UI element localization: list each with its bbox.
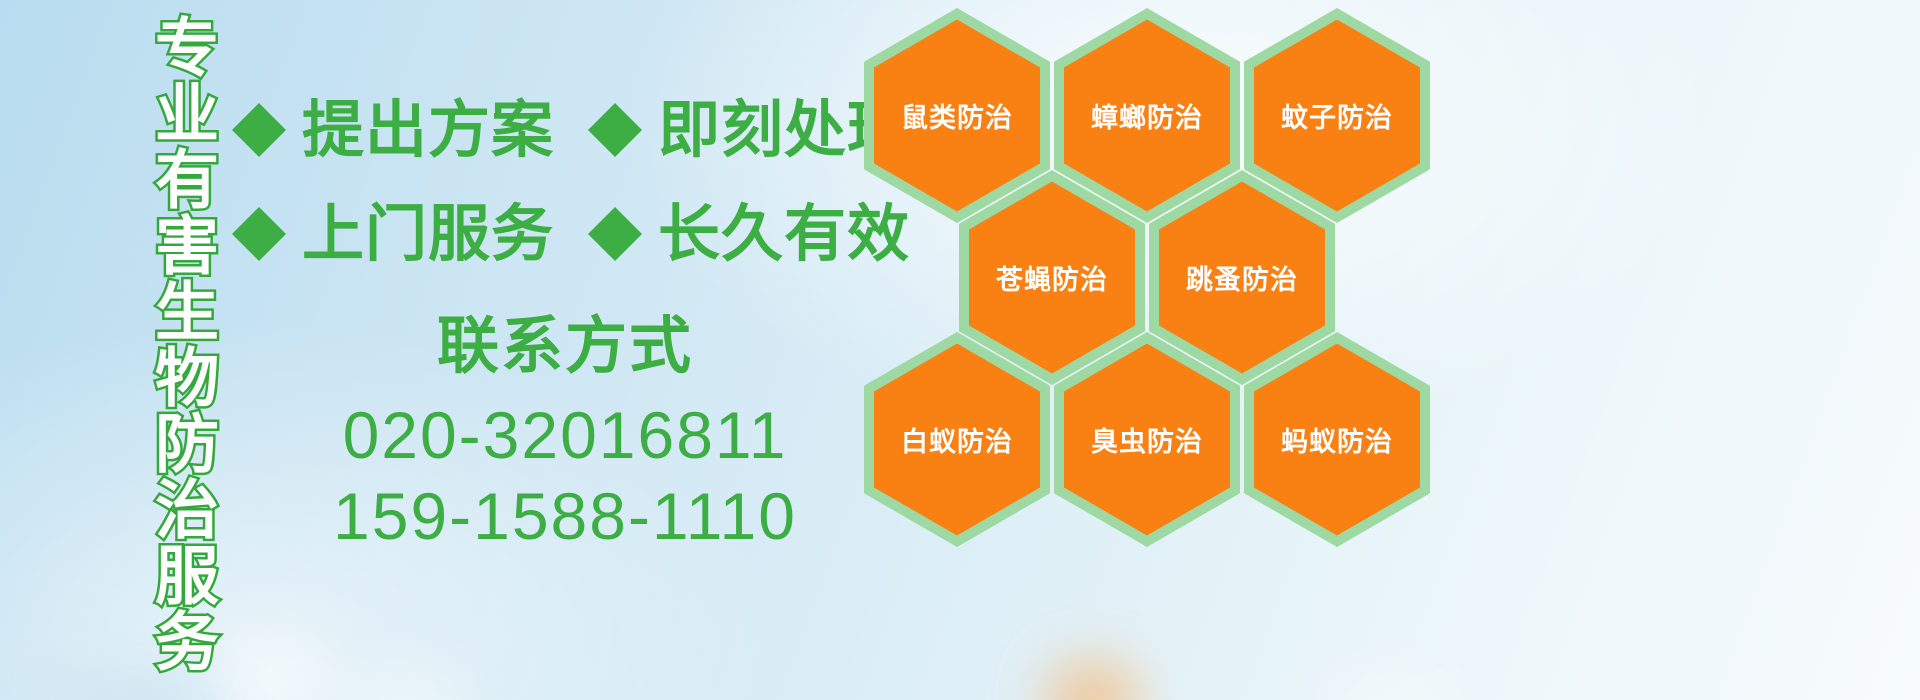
hexagon-inner: 苍蝇防治 [969,182,1135,374]
hexagon-inner: 蚂蚁防治 [1254,344,1420,536]
background-bokeh-blob [60,676,220,700]
contact-title: 联系方式 [255,310,875,381]
pest-control-banner: 专业有害生物防治服务 提出方案 即刻处理 上门服务 长久有效 联系方式 [0,0,1920,700]
background-bokeh-blob [215,640,335,700]
hexagon-inner: 鼠类防治 [874,20,1040,212]
feature-list: 提出方案 即刻处理 上门服务 长久有效 [232,78,872,286]
diamond-bullet-icon [232,180,286,234]
hexagon-inner: 白蚁防治 [874,344,1040,536]
contact-phone-mobile[interactable]: 159-1588-1110 [255,476,875,557]
diamond-bullet-icon [232,76,286,130]
hexagon-inner: 臭虫防治 [1064,344,1230,536]
service-label: 白蚁防治 [901,420,1013,459]
service-label: 鼠类防治 [901,96,1013,135]
diamond-bullet-icon [588,180,642,234]
feature-label: 上门服务 [302,203,554,265]
feature-item-propose-plan: 提出方案 [232,99,554,161]
contact-phone-landline[interactable]: 020-32016811 [255,395,875,476]
service-label: 蟑螂防治 [1091,96,1203,135]
hexagon-inner: 跳蚤防治 [1159,182,1325,374]
feature-row: 提出方案 即刻处理 [232,78,872,182]
feature-row: 上门服务 长久有效 [232,182,872,286]
service-hexagon-grid: 鼠类防治 蟑螂防治 蚊子防治 苍蝇防治 跳蚤防治 白蚁防治 [858,0,1458,700]
service-label: 臭虫防治 [1091,420,1203,459]
service-label: 苍蝇防治 [996,258,1108,297]
feature-label: 提出方案 [302,99,554,161]
hexagon-inner: 蚊子防治 [1254,20,1420,212]
hexagon-inner: 蟑螂防治 [1064,20,1230,212]
service-label: 跳蚤防治 [1186,258,1298,297]
service-label: 蚂蚁防治 [1281,420,1393,459]
diamond-bullet-icon [588,76,642,130]
service-label: 蚊子防治 [1281,96,1393,135]
vertical-headline: 专业有害生物防治服务 [118,14,214,674]
feature-item-onsite-service: 上门服务 [232,203,554,265]
background-bokeh-blob [330,668,480,700]
contact-block: 联系方式 020-32016811 159-1588-1110 [255,310,875,556]
